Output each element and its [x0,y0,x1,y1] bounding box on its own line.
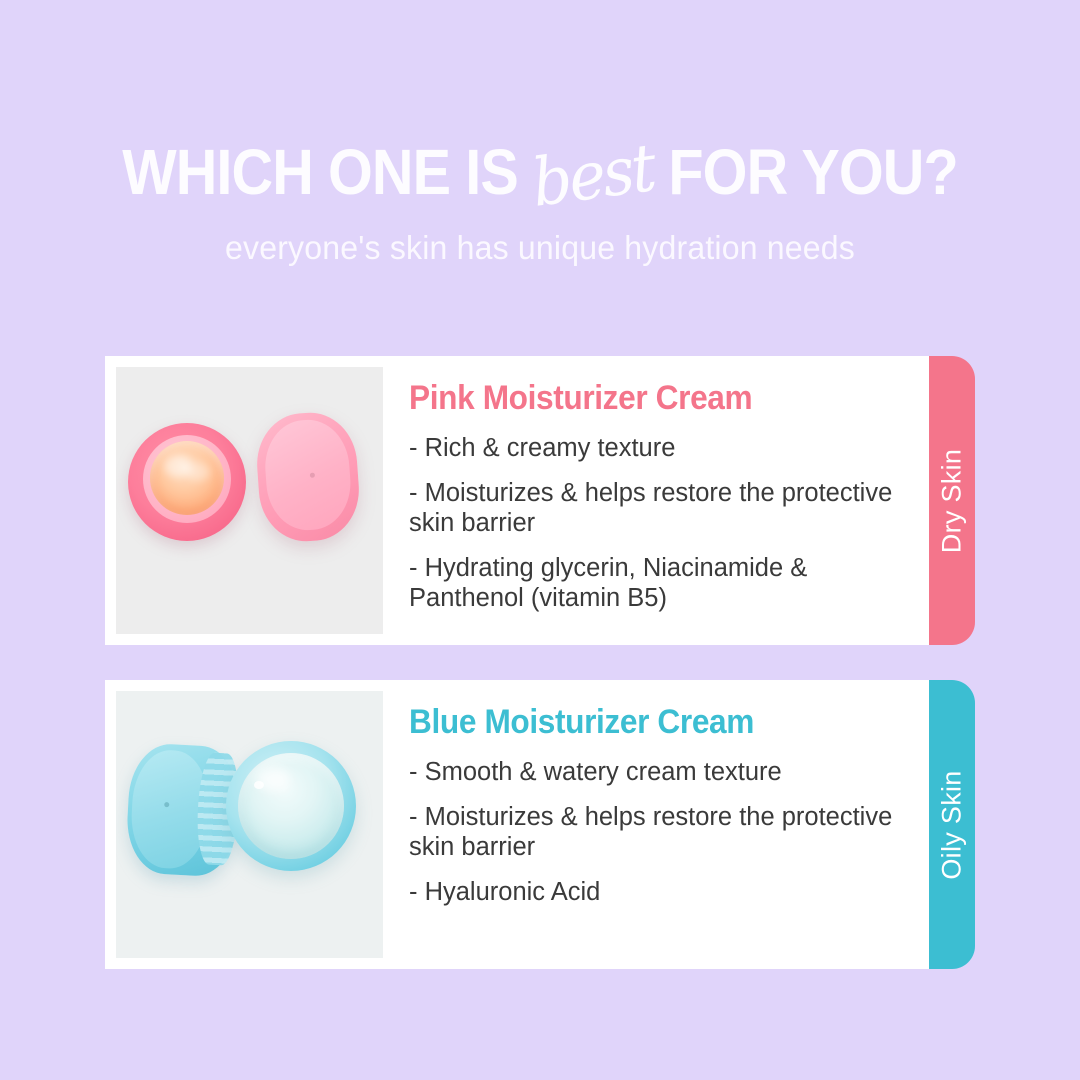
product-title: Pink Moisturizer Cream [409,379,866,417]
page-title: WHICH ONE IS best FOR YOU? [54,140,1026,204]
product-card-blue[interactable]: Blue Moisturizer Cream - Smooth & watery… [105,680,975,969]
pink-jar-cream-shape [150,441,224,515]
product-bullet: - Rich & creamy texture [409,433,900,463]
product-details: Pink Moisturizer Cream - Rich & creamy t… [383,367,918,613]
product-bullet: - Hydrating glycerin, Niacinamide & Pant… [409,553,900,613]
headline-part-one: WHICH ONE IS [122,136,518,208]
product-card-body: Blue Moisturizer Cream - Smooth & watery… [105,680,929,969]
product-title: Blue Moisturizer Cream [409,703,866,741]
skin-type-tab-label: Oily Skin [939,770,966,879]
headline-script-word: best [528,136,659,216]
product-bullet: - Hyaluronic Acid [409,877,900,907]
blue-jar-gel-shape [238,753,344,859]
product-bullet: - Moisturizes & helps restore the protec… [409,802,900,862]
product-bullet: - Moisturizes & helps restore the protec… [409,478,900,538]
product-card-pink[interactable]: Pink Moisturizer Cream - Rich & creamy t… [105,356,975,645]
product-card-body: Pink Moisturizer Cream - Rich & creamy t… [105,356,929,645]
skin-type-tab-dry[interactable]: Dry Skin [929,356,975,645]
skin-type-tab-oily[interactable]: Oily Skin [929,680,975,969]
pink-jar-lid-shape [254,410,363,545]
product-bullet: - Smooth & watery cream texture [409,757,900,787]
headline-part-two: FOR YOU? [668,136,957,208]
page-subtitle: everyone's skin has unique hydration nee… [16,230,1064,266]
blue-moisturizer-jar-photo [116,691,383,958]
header: WHICH ONE IS best FOR YOU? everyone's sk… [0,0,1080,266]
pink-moisturizer-jar-photo [116,367,383,634]
product-details: Blue Moisturizer Cream - Smooth & watery… [383,691,918,907]
skin-type-tab-label: Dry Skin [939,448,966,552]
